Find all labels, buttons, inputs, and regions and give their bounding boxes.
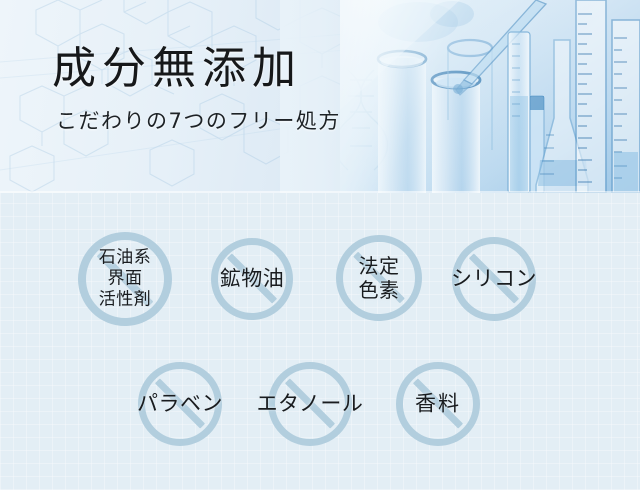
badge-line: 石油系 — [99, 248, 152, 269]
free-badge-label: 法定 色素 — [359, 254, 400, 302]
badge-line: 色素 — [359, 278, 400, 302]
free-badge-label: シリコン — [451, 267, 537, 292]
free-badge-fragrance: 香料 — [396, 362, 480, 446]
header-photo-fade — [280, 0, 390, 193]
free-badge-silicone: シリコン — [452, 237, 536, 321]
free-badge-paraben: パラベン — [138, 362, 222, 446]
free-badge-legal-dye: 法定 色素 — [336, 235, 422, 321]
banner-header: 成分無添加 こだわりの7つのフリー処方 — [0, 0, 640, 193]
page-subtitle: こだわりの7つのフリー処方 — [56, 106, 341, 136]
page-title: 成分無添加 — [52, 44, 302, 94]
badge-line: 界面 — [99, 269, 152, 290]
free-badge-ethanol: エタノール — [268, 362, 352, 446]
free-formula-banner: 成分無添加 こだわりの7つのフリー処方 石油系 界面 活性剤 鉱物油 — [0, 0, 640, 490]
free-badge-mineral-oil: 鉱物油 — [211, 238, 293, 320]
badge-line: 法定 — [359, 254, 400, 278]
free-badge-label: 鉱物油 — [220, 267, 285, 292]
badge-line: パラベン — [137, 392, 223, 417]
badge-line: 香料 — [415, 392, 461, 417]
badge-line: 活性剤 — [99, 290, 152, 311]
badge-line: エタノール — [257, 392, 364, 417]
free-badges-section: 石油系 界面 活性剤 鉱物油 法定 色素 — [0, 193, 640, 490]
badge-line: 鉱物油 — [220, 267, 285, 292]
free-badge-label: 香料 — [415, 392, 461, 417]
free-badge-label: パラベン — [137, 392, 223, 417]
free-badge-petroleum-surfactant: 石油系 界面 活性剤 — [78, 232, 172, 326]
free-badge-label: エタノール — [257, 392, 364, 417]
badge-line: シリコン — [451, 267, 537, 292]
free-badge-label: 石油系 界面 活性剤 — [99, 248, 152, 311]
